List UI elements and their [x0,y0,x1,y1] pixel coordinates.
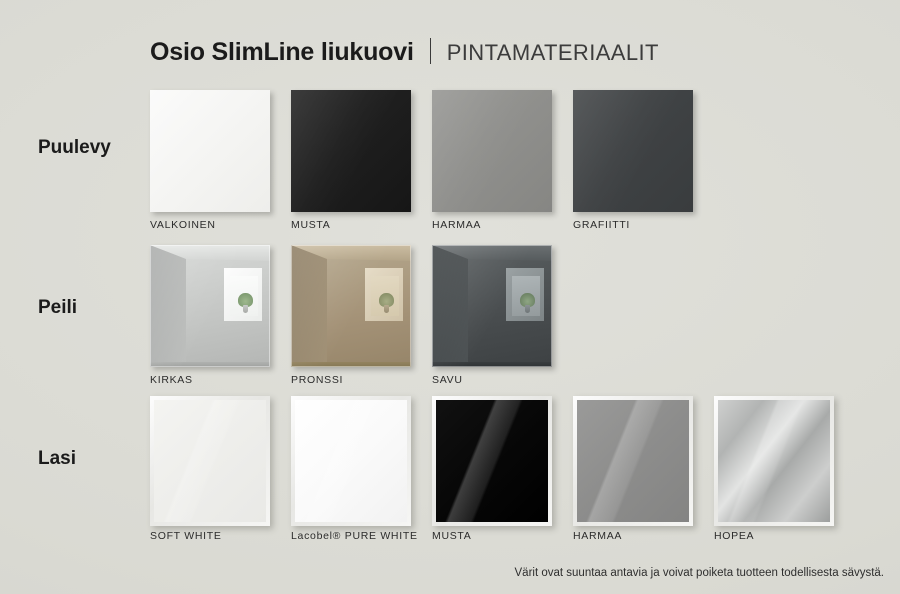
swatch-caption: HOPEA [714,530,754,542]
gloss-overlay [718,400,830,522]
gloss-overlay [295,400,407,522]
window-pane [371,276,400,316]
swatch-peili-kirkas[interactable]: KIRKAS [150,245,270,367]
swatch-tile [154,400,266,522]
swatch-tile [295,400,407,522]
row-label-puulevy: Puulevy [38,137,111,159]
swatch-tile [577,400,689,522]
swatch-caption: PRONSSI [291,374,343,386]
swatch-tile [436,400,548,522]
glass-frame [432,396,552,526]
sheen-overlay [150,90,270,212]
swatch-tile [432,245,552,367]
mirror-reflection [432,245,552,367]
page-title: Osio SlimLine liukuovi [150,38,414,67]
swatch-caption: MUSTA [291,219,330,231]
swatch-tile [291,90,411,212]
title-separator [430,38,431,64]
reflected-window [365,268,402,320]
swatch-caption: KIRKAS [150,374,193,386]
swatch-caption: HARMAA [432,219,481,231]
page-header: Osio SlimLine liukuovi PINTAMATERIAALIT [150,34,659,67]
swatch-caption: SAVU [432,374,463,386]
sheen-overlay [291,90,411,212]
swatch-caption: Lacobel® PURE WHITE [291,530,418,542]
page-subtitle: PINTAMATERIAALIT [447,40,659,66]
swatch-tile [291,245,411,367]
reflected-window [506,268,543,320]
sheen-overlay [573,90,693,212]
glass-frame [150,396,270,526]
swatch-lasi-soft-white[interactable]: SOFT WHITE [150,396,270,526]
swatch-caption: GRAFIITTI [573,219,630,231]
row-label-peili: Peili [38,297,77,319]
swatch-puulevy-musta[interactable]: MUSTA [291,90,411,212]
reflected-window [224,268,261,320]
reflected-floor [291,362,411,367]
swatch-lasi-harmaa[interactable]: HARMAA [573,396,693,526]
swatch-caption: MUSTA [432,530,471,542]
swatch-tile [573,90,693,212]
gloss-overlay [577,400,689,522]
sheen-overlay [432,90,552,212]
swatch-caption: SOFT WHITE [150,530,222,542]
glass-frame [714,396,834,526]
swatch-puulevy-grafiitti[interactable]: GRAFIITTI [573,90,693,212]
glass-frame [573,396,693,526]
swatch-caption: HARMAA [573,530,622,542]
mirror-reflection [150,245,270,367]
swatch-peili-pronssi[interactable]: PRONSSI [291,245,411,367]
gloss-overlay [154,400,266,522]
swatch-tile [150,245,270,367]
swatch-lasi-lacobel-pure-white[interactable]: Lacobel® PURE WHITE [291,396,411,526]
glass-frame [291,396,411,526]
swatch-peili-savu[interactable]: SAVU [432,245,552,367]
swatch-tile [432,90,552,212]
swatch-tile [150,90,270,212]
row-label-lasi: Lasi [38,448,76,470]
swatch-tile [718,400,830,522]
reflected-floor [432,362,552,367]
reflected-side-wall [150,245,186,367]
swatch-puulevy-valkoinen[interactable]: VALKOINEN [150,90,270,212]
swatch-lasi-hopea[interactable]: HOPEA [714,396,834,526]
mirror-reflection [291,245,411,367]
plant-pot [384,305,389,313]
reflected-floor [150,362,270,367]
disclaimer-note: Värit ovat suuntaa antavia ja voivat poi… [515,567,885,579]
swatch-puulevy-harmaa[interactable]: HARMAA [432,90,552,212]
gloss-overlay [436,400,548,522]
swatch-lasi-musta[interactable]: MUSTA [432,396,552,526]
material-board-page: Osio SlimLine liukuovi PINTAMATERIAALIT … [0,0,900,594]
reflected-side-wall [432,245,468,367]
reflected-side-wall [291,245,327,367]
window-pane [512,276,541,316]
plant-pot [243,305,248,313]
window-pane [230,276,259,316]
swatch-caption: VALKOINEN [150,219,216,231]
plant-pot [525,305,530,313]
